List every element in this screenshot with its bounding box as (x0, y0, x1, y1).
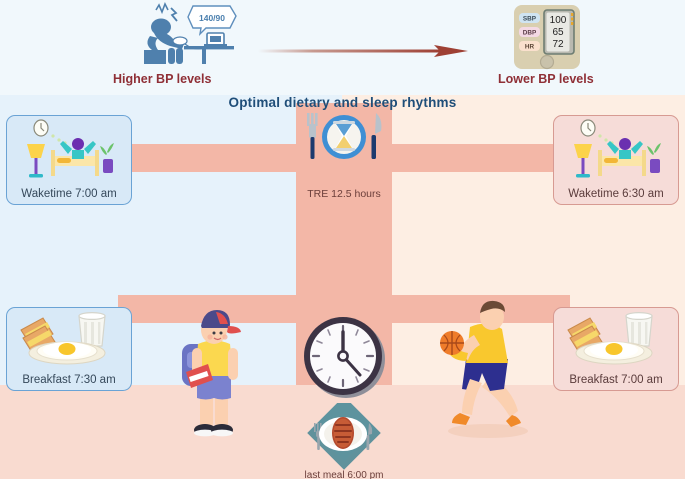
wall-clock-icon (300, 313, 388, 401)
waketime-card-left[interactable]: Waketime 7:00 am (6, 115, 132, 205)
main-panel: Optimal dietary and sleep rhythms (0, 95, 685, 479)
waketime-label-right: Waketime 6:30 am (554, 188, 678, 200)
person-waking-in-bed-icon (7, 116, 133, 188)
right-arrow-icon (258, 44, 468, 58)
breakfast-egg-sandwich-milk-icon (554, 308, 680, 374)
top-section: 140/90 (0, 0, 685, 95)
teen-playing-basketball-icon (430, 297, 542, 445)
hr-value: 72 (552, 39, 564, 50)
sbp-value: 100 (550, 15, 567, 26)
bp-speech-value: 140/90 (199, 13, 225, 23)
person-waking-in-bed-icon (554, 116, 680, 188)
lower-bp-caption: Lower BP levels (498, 72, 594, 86)
hr-label: HR (525, 44, 535, 51)
person-at-desk-stress-icon: 140/90 (130, 2, 245, 68)
waketime-label-left: Waketime 7:00 am (7, 188, 131, 200)
higher-bp-caption: Higher BP levels (113, 72, 211, 86)
breakfast-card-right[interactable]: Breakfast 7:00 am (553, 307, 679, 391)
page-title: Optimal dietary and sleep rhythms (0, 95, 685, 110)
dbp-label: DBP (523, 30, 537, 37)
waketime-card-right[interactable]: Waketime 6:30 am (553, 115, 679, 205)
last-meal-label: last meal 6:00 pm (296, 470, 392, 479)
tre-label: TRE 12.5 hours (296, 188, 392, 200)
breakfast-label-left: Breakfast 7:30 am (7, 374, 131, 386)
dbp-value: 65 (552, 27, 564, 38)
schoolboy-with-backpack-icon (158, 302, 258, 442)
plate-with-meat-fork-knife-icon (296, 403, 392, 471)
breakfast-egg-sandwich-milk-icon (7, 308, 133, 374)
sbp-label: SBP (523, 16, 537, 23)
infographic-root: 140/90 (0, 0, 685, 479)
last-meal-card[interactable]: last meal 6:00 pm (296, 403, 392, 479)
breakfast-label-right: Breakfast 7:00 am (554, 374, 678, 386)
breakfast-card-left[interactable]: Breakfast 7:30 am (6, 307, 132, 391)
plate-hourglass-fork-knife-icon (296, 103, 392, 187)
blood-pressure-monitor-icon: 100 65 72 SBP DBP HR (508, 4, 586, 74)
tre-card[interactable]: TRE 12.5 hours (296, 103, 392, 203)
